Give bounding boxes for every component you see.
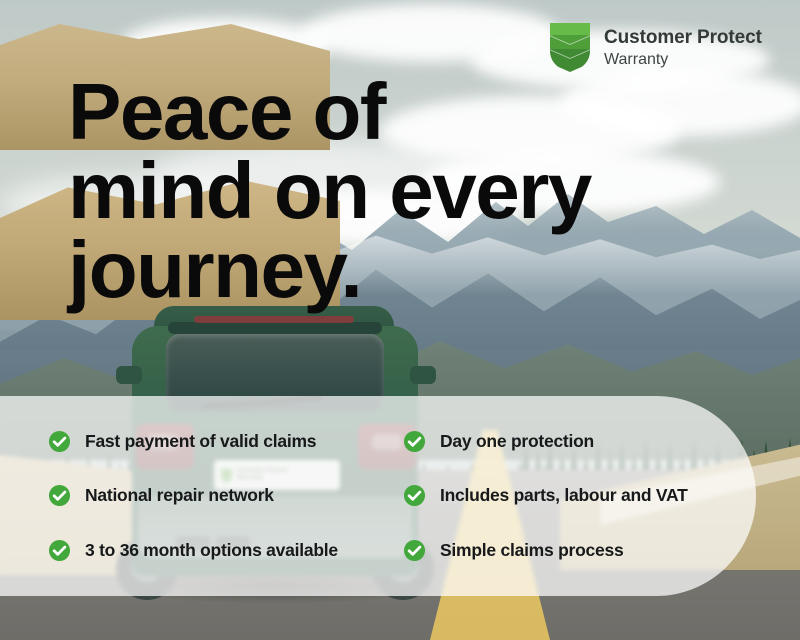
check-circle-icon	[48, 430, 71, 453]
headline-line-2: mind on every	[68, 151, 591, 230]
advert-banner: Customer Protect Warranty Cust	[0, 0, 800, 640]
check-circle-icon	[403, 539, 426, 562]
feature-label: Simple claims process	[440, 540, 623, 561]
headline-line-3: journey.	[68, 230, 591, 309]
headline: Peace of mind on every journey.	[68, 72, 591, 310]
features-list: Fast payment of valid claims Day one pro…	[0, 396, 800, 596]
brand-logo[interactable]: Customer Protect Warranty	[549, 22, 762, 74]
check-circle-icon	[403, 484, 426, 507]
feature-label: National repair network	[85, 485, 274, 506]
headline-line-1: Peace of	[68, 72, 591, 151]
feature-item: 3 to 36 month options available	[48, 523, 403, 578]
feature-item: Fast payment of valid claims	[48, 414, 403, 469]
check-circle-icon	[48, 539, 71, 562]
feature-item: National repair network	[48, 469, 403, 524]
brand-subtitle: Warranty	[604, 52, 762, 68]
feature-item: Simple claims process	[403, 523, 800, 578]
feature-item: Day one protection	[403, 414, 800, 469]
shield-chevron-icon	[549, 22, 591, 74]
brand-logo-text: Customer Protect Warranty	[604, 28, 762, 68]
feature-item: Includes parts, labour and VAT	[403, 469, 800, 524]
feature-label: Fast payment of valid claims	[85, 431, 316, 452]
check-circle-icon	[403, 430, 426, 453]
check-circle-icon	[48, 484, 71, 507]
brand-title: Customer Protect	[604, 28, 762, 47]
feature-label: Day one protection	[440, 431, 594, 452]
feature-label: Includes parts, labour and VAT	[440, 485, 688, 506]
feature-label: 3 to 36 month options available	[85, 540, 338, 561]
